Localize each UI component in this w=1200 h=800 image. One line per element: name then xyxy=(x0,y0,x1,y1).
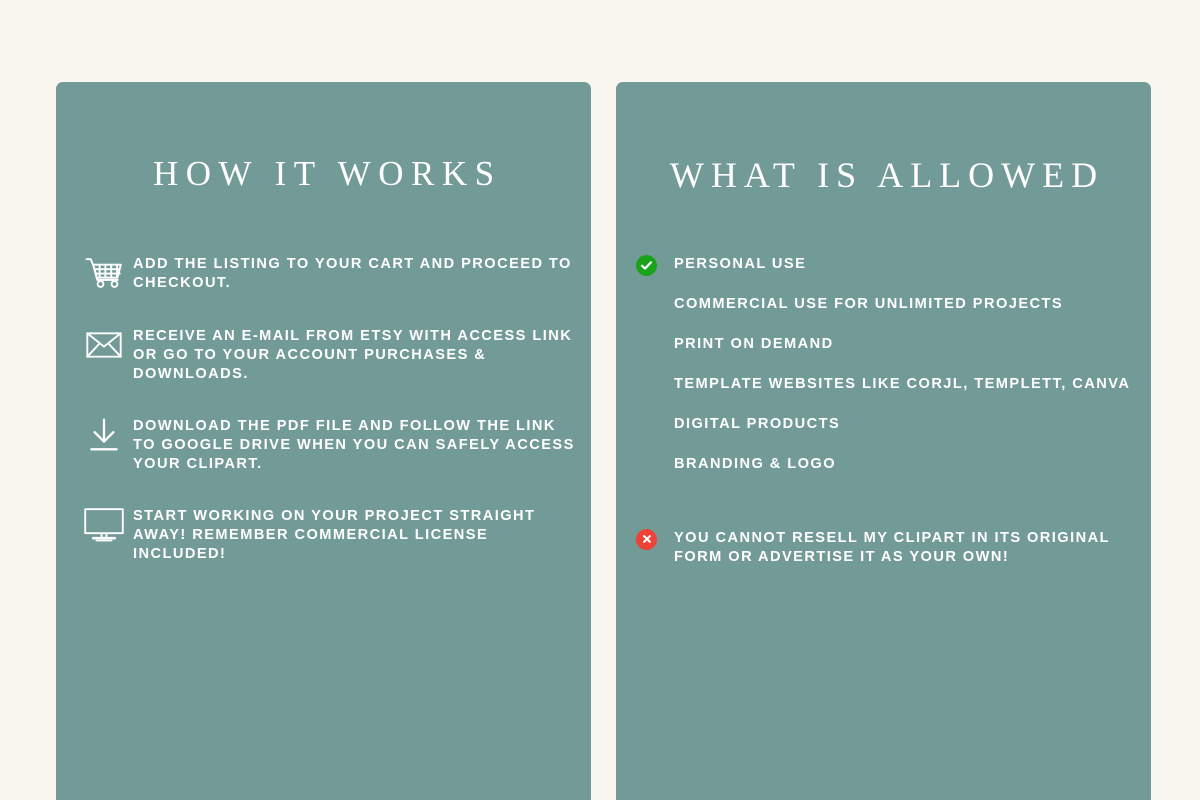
monitor-icon xyxy=(75,504,133,546)
list-bullet-spacer xyxy=(636,452,674,476)
download-icon xyxy=(75,414,133,456)
allowed-item-text: Template websites like Corjl, Templett, … xyxy=(674,372,1130,394)
envelope-icon xyxy=(75,324,133,366)
how-it-works-card: HOW IT WORKS Add the listing to your car… xyxy=(56,82,591,800)
step-text: Add the listing to your cart and proceed… xyxy=(133,251,578,293)
allowed-item-text: Print on demand xyxy=(674,332,834,354)
step-item: Start working on your project straight a… xyxy=(75,503,585,564)
step-text: Download the PDF file and follow the lin… xyxy=(133,413,578,474)
list-bullet-spacer xyxy=(636,372,674,396)
allowed-item: Digital products xyxy=(636,412,1137,436)
x-circle-icon xyxy=(636,526,674,550)
step-item: Download the PDF file and follow the lin… xyxy=(75,413,585,474)
what-is-allowed-title: WHAT IS ALLOWED xyxy=(616,154,1151,196)
not-allowed-item-text: You cannot resell my clipart in its orig… xyxy=(674,526,1137,567)
allowed-item: Print on demand xyxy=(636,332,1137,356)
list-bullet-spacer xyxy=(636,292,674,316)
step-item: Add the listing to your cart and proceed… xyxy=(75,251,585,294)
allowed-item-text: Branding & logo xyxy=(674,452,836,474)
check-circle-icon xyxy=(636,252,674,276)
allowed-item-text: Digital products xyxy=(674,412,840,434)
step-text: Receive an e-mail from Etsy with access … xyxy=(133,323,578,384)
list-bullet-spacer xyxy=(636,412,674,436)
allowed-item-text: Commercial use for unlimited projects xyxy=(674,292,1063,314)
allowed-list: Personal use Commercial use for unlimite… xyxy=(616,252,1151,567)
license-info-board: HOW IT WORKS Add the listing to your car… xyxy=(0,0,1200,800)
allowed-item: Branding & logo xyxy=(636,452,1137,476)
allowed-item: Template websites like Corjl, Templett, … xyxy=(636,372,1137,396)
what-is-allowed-card: WHAT IS ALLOWED Personal use Commercial … xyxy=(616,82,1151,800)
shopping-cart-icon xyxy=(75,252,133,294)
how-it-works-title: HOW IT WORKS xyxy=(56,154,591,194)
list-bullet-spacer xyxy=(636,332,674,356)
allowed-item: Commercial use for unlimited projects xyxy=(636,292,1137,316)
steps-list: Add the listing to your cart and proceed… xyxy=(56,251,591,564)
step-item: Receive an e-mail from Etsy with access … xyxy=(75,323,585,384)
allowed-item: Personal use xyxy=(636,252,1137,276)
step-text: Start working on your project straight a… xyxy=(133,503,578,564)
not-allowed-item: You cannot resell my clipart in its orig… xyxy=(636,526,1137,567)
allowed-item-text: Personal use xyxy=(674,252,806,274)
